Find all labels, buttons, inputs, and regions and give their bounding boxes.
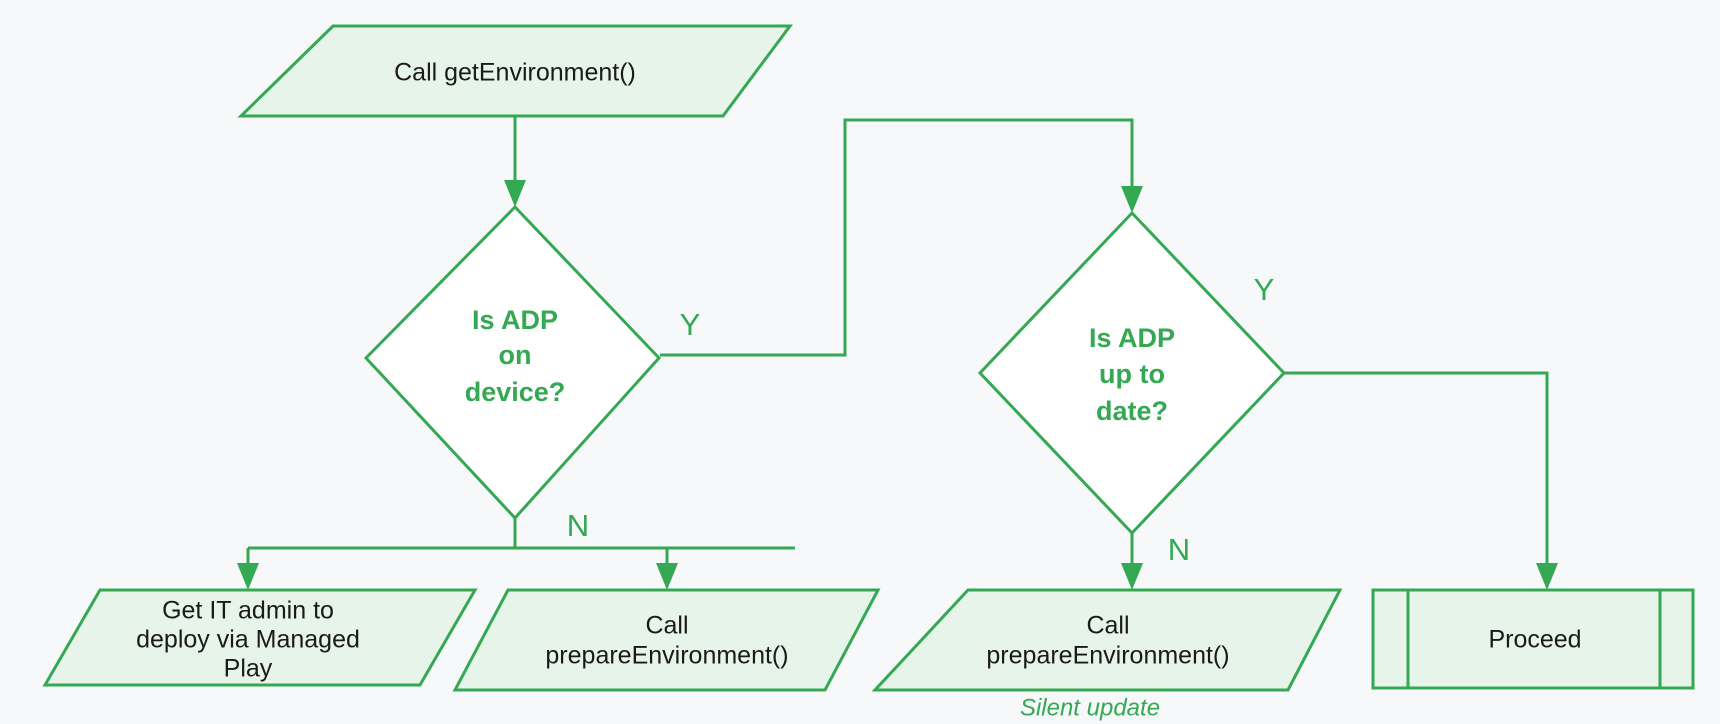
- node-call-prepare-environment-left[interactable]: Call prepareEnvironment(): [455, 590, 878, 690]
- arrow-head-icon: [1536, 563, 1558, 590]
- node-get-it-admin-deploy[interactable]: Get IT admin to deploy via Managed Play: [45, 590, 475, 685]
- decision-label-line1: Is ADP: [472, 305, 558, 335]
- node-label-line2: deploy via Managed: [136, 626, 360, 654]
- decision-label-line1: Is ADP: [1089, 323, 1175, 353]
- node-label-line1: Call: [1086, 612, 1129, 640]
- node-label-line2: prepareEnvironment(): [986, 642, 1229, 670]
- edge-on-device-no: [237, 518, 795, 590]
- branch-label-on-device-yes: Y: [680, 307, 701, 342]
- decision-label-line3: date?: [1096, 396, 1168, 426]
- branch-label-on-device-no: N: [567, 508, 589, 543]
- node-proceed[interactable]: Proceed: [1373, 590, 1693, 688]
- caption-silent-update: Silent update: [1020, 694, 1160, 721]
- node-label-line2: prepareEnvironment(): [545, 642, 788, 670]
- edge-line: [1284, 373, 1547, 573]
- node-label-line1: Call: [645, 612, 688, 640]
- arrow-head-icon: [1121, 563, 1143, 590]
- node-decision-is-adp-up-to-date[interactable]: Is ADP up to date?: [980, 213, 1284, 533]
- arrow-head-icon: [656, 563, 678, 590]
- arrow-head-icon: [504, 180, 526, 207]
- decision-label-line3: device?: [465, 377, 566, 407]
- node-decision-is-adp-on-device[interactable]: Is ADP on device?: [366, 207, 659, 518]
- node-call-prepare-environment-right[interactable]: Call prepareEnvironment(): [875, 590, 1340, 690]
- node-label-line3: Play: [224, 655, 273, 683]
- parallelogram-shape: [455, 590, 878, 690]
- node-label-proceed: Proceed: [1488, 626, 1581, 654]
- arrow-head-icon: [1121, 186, 1143, 213]
- node-label-line1: Get IT admin to: [162, 597, 334, 625]
- branch-label-up-to-date-yes: Y: [1254, 272, 1275, 307]
- edge-up-to-date-no: [1121, 533, 1143, 590]
- flowchart-canvas: Call getEnvironment() Is ADP on device? …: [0, 0, 1720, 724]
- node-label-start: Call getEnvironment(): [394, 59, 636, 87]
- parallelogram-shape: [875, 590, 1340, 690]
- branch-label-up-to-date-no: N: [1168, 532, 1190, 567]
- edge-up-to-date-yes: [1284, 373, 1558, 590]
- decision-label-line2: on: [499, 340, 532, 370]
- edge-line: [248, 518, 795, 573]
- arrow-head-icon: [237, 563, 259, 590]
- decision-label-line2: up to: [1099, 359, 1165, 389]
- node-call-get-environment[interactable]: Call getEnvironment(): [241, 26, 790, 116]
- edge-start-to-on-device: [504, 117, 526, 207]
- flowchart-svg: Call getEnvironment() Is ADP on device? …: [0, 0, 1720, 724]
